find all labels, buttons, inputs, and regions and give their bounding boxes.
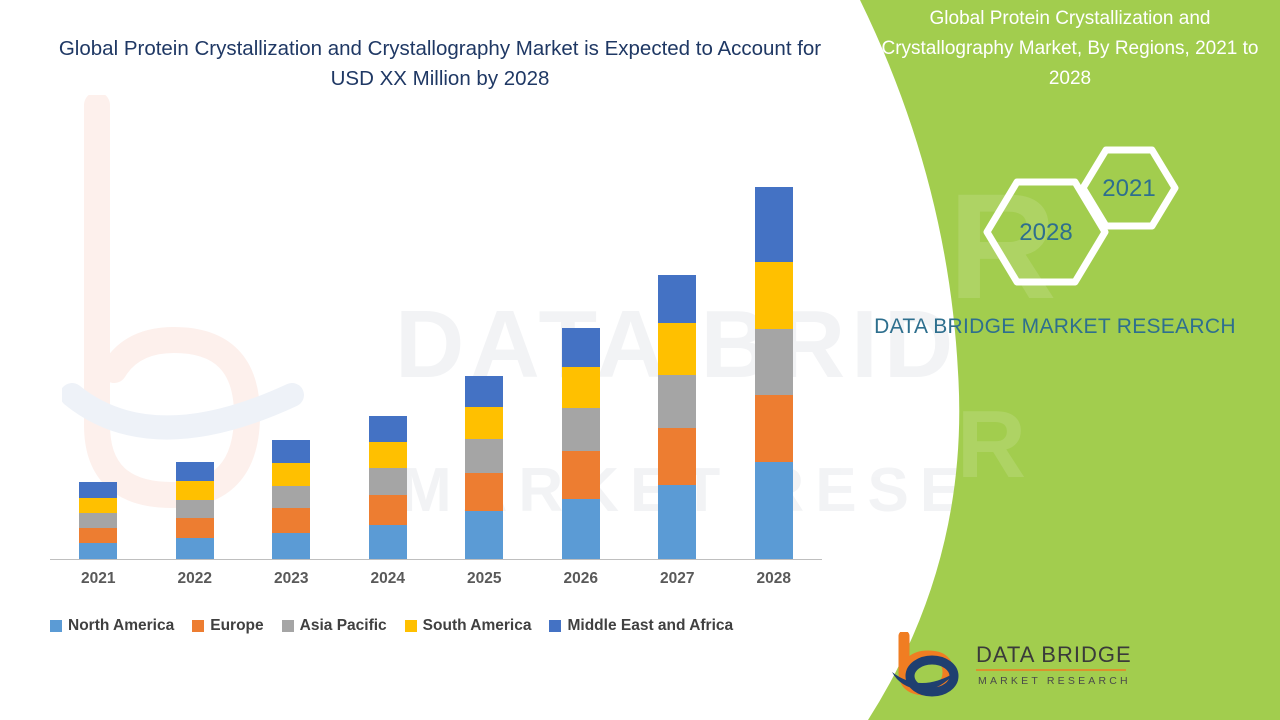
x-axis-tick-label: 2026 <box>533 570 630 588</box>
legend-label: Asia Pacific <box>300 617 387 635</box>
bar-segment[interactable] <box>562 499 600 559</box>
bar-segment[interactable] <box>79 543 117 559</box>
stacked-bar[interactable] <box>272 440 310 559</box>
legend-item[interactable]: Europe <box>192 617 263 635</box>
bar-segment[interactable] <box>658 275 696 323</box>
legend-swatch <box>192 620 204 632</box>
bar-segment[interactable] <box>369 416 407 442</box>
x-axis-tick-label: 2028 <box>726 570 823 588</box>
bar-segment[interactable] <box>755 329 793 395</box>
bar-group <box>533 120 630 559</box>
stacked-bar[interactable] <box>79 482 117 559</box>
bar-segment[interactable] <box>755 262 793 329</box>
chart-title: Global Protein Crystallization and Cryst… <box>40 34 840 94</box>
bar-segment[interactable] <box>176 481 214 500</box>
legend-item[interactable]: South America <box>405 617 532 635</box>
bar-segment[interactable] <box>272 440 310 463</box>
bar-group <box>436 120 533 559</box>
x-axis-tick-label: 2027 <box>629 570 726 588</box>
bar-segment[interactable] <box>272 533 310 559</box>
brand-panel: BR E R Global Protein Crystallization an… <box>820 0 1280 720</box>
bar-group <box>147 120 244 559</box>
chart-legend: North AmericaEuropeAsia PacificSouth Ame… <box>50 617 840 635</box>
stacked-bar[interactable] <box>562 328 600 559</box>
legend-swatch <box>282 620 294 632</box>
x-axis-line <box>50 559 822 560</box>
bar-segment[interactable] <box>755 462 793 559</box>
legend-item[interactable]: Asia Pacific <box>282 617 387 635</box>
bar-segment[interactable] <box>658 323 696 375</box>
legend-swatch <box>50 620 62 632</box>
chart-plot-area <box>50 120 822 560</box>
bar-group <box>726 120 823 559</box>
bar-segment[interactable] <box>465 473 503 511</box>
bar-segment[interactable] <box>755 187 793 262</box>
bar-segment[interactable] <box>79 498 117 513</box>
bar-segment[interactable] <box>658 428 696 485</box>
logo-secondary-text: MARKET RESEARCH <box>978 675 1130 687</box>
bar-segment[interactable] <box>465 376 503 407</box>
bar-segment[interactable] <box>369 442 407 468</box>
x-axis-tick-label: 2021 <box>50 570 147 588</box>
bar-segment[interactable] <box>755 395 793 462</box>
bar-segment[interactable] <box>658 485 696 559</box>
bar-segment[interactable] <box>369 468 407 495</box>
hexagon-start-year-label: 2021 <box>1102 175 1155 202</box>
bar-segment[interactable] <box>176 462 214 481</box>
logo-primary-text: DATA BRIDGE <box>976 642 1130 667</box>
stacked-bar[interactable] <box>465 376 503 559</box>
bar-segment[interactable] <box>176 500 214 518</box>
x-axis-tick-label: 2022 <box>147 570 244 588</box>
infographic-canvas: DATA BRIDGE MARKET RESEARCH Global Prote… <box>0 0 1280 720</box>
year-hexagon-badges: 2028 2021 <box>975 140 1185 290</box>
bar-segment[interactable] <box>562 408 600 451</box>
bar-group <box>340 120 437 559</box>
legend-item[interactable]: North America <box>50 617 174 635</box>
legend-label: North America <box>68 617 174 635</box>
bar-series-container <box>50 120 822 559</box>
legend-label: Middle East and Africa <box>567 617 733 635</box>
legend-swatch <box>549 620 561 632</box>
bar-segment[interactable] <box>176 538 214 559</box>
bar-segment[interactable] <box>562 367 600 408</box>
bar-segment[interactable] <box>79 528 117 543</box>
legend-label: South America <box>423 617 532 635</box>
bar-segment[interactable] <box>176 518 214 538</box>
legend-item[interactable]: Middle East and Africa <box>549 617 733 635</box>
bar-segment[interactable] <box>369 525 407 559</box>
x-axis-tick-label: 2023 <box>243 570 340 588</box>
hexagon-end-year-label: 2028 <box>1019 219 1072 246</box>
bar-segment[interactable] <box>369 495 407 525</box>
data-bridge-logo: DATA BRIDGE MARKET RESEARCH <box>890 632 1130 698</box>
bar-segment[interactable] <box>79 513 117 528</box>
bar-group <box>243 120 340 559</box>
bar-segment[interactable] <box>658 375 696 428</box>
panel-watermark-secondary: E R <box>834 390 1042 500</box>
bar-segment[interactable] <box>465 511 503 559</box>
bar-group <box>629 120 726 559</box>
bar-segment[interactable] <box>465 407 503 439</box>
panel-title: Global Protein Crystallization and Cryst… <box>870 4 1270 94</box>
legend-swatch <box>405 620 417 632</box>
bar-segment[interactable] <box>562 328 600 367</box>
bar-segment[interactable] <box>562 451 600 499</box>
bar-segment[interactable] <box>465 439 503 473</box>
stacked-bar[interactable] <box>658 275 696 559</box>
brand-name-text: DATA BRIDGE MARKET RESEARCH <box>850 310 1260 343</box>
stacked-bar[interactable] <box>755 187 793 559</box>
bar-segment[interactable] <box>272 486 310 508</box>
x-axis-tick-label: 2025 <box>436 570 533 588</box>
bar-segment[interactable] <box>79 482 117 498</box>
stacked-bar[interactable] <box>369 416 407 559</box>
stacked-bar[interactable] <box>176 462 214 559</box>
bar-segment[interactable] <box>272 508 310 533</box>
bar-group <box>50 120 147 559</box>
legend-label: Europe <box>210 617 263 635</box>
bar-segment[interactable] <box>272 463 310 486</box>
x-axis-tick-label: 2024 <box>340 570 437 588</box>
x-axis-tick-labels: 20212022202320242025202620272028 <box>50 570 822 588</box>
